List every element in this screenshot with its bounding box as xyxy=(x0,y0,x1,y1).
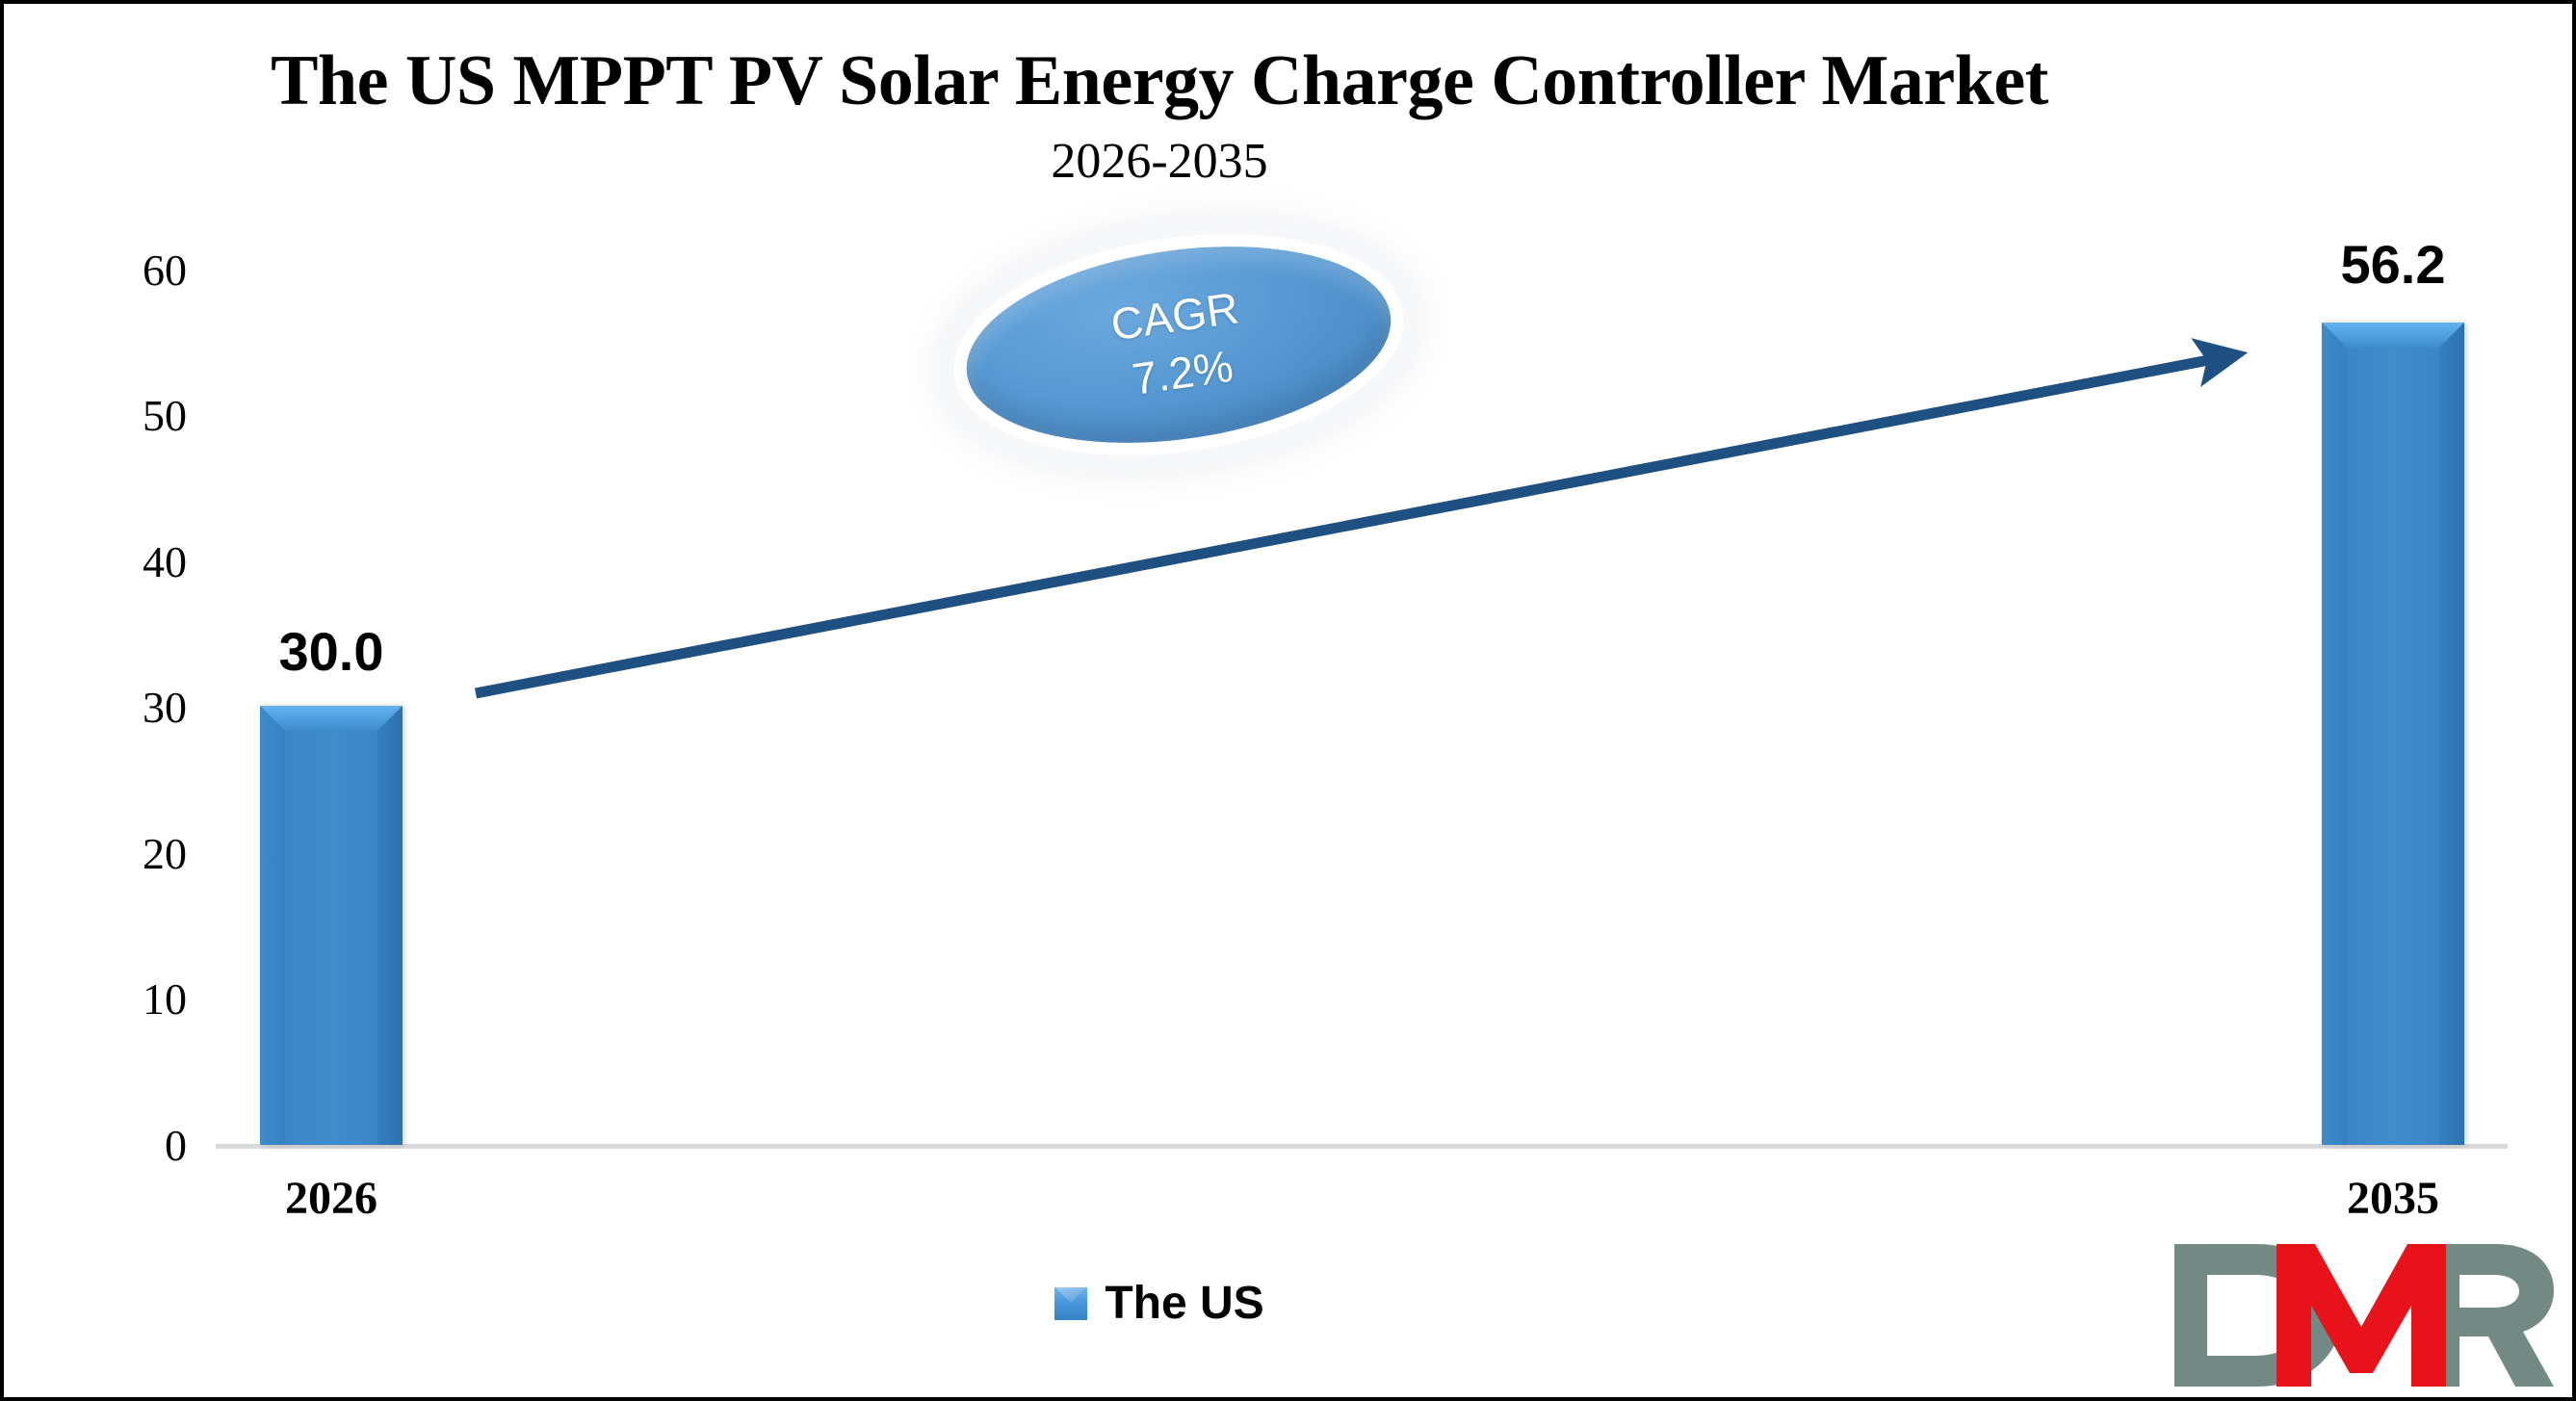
bar-bevel-right-icon xyxy=(2439,323,2464,1145)
chart-legend: The US xyxy=(4,1277,2315,1330)
legend-swatch-the-us xyxy=(1054,1287,1087,1320)
legend-label-the-us: The US xyxy=(1105,1277,1263,1330)
bar-value-label-2026: 30.0 xyxy=(177,620,485,683)
cagr-bubble-text: CAGR 7.2% xyxy=(940,207,1418,481)
x-axis-tick-2026: 2026 xyxy=(187,1172,476,1225)
y-axis-tick-50: 50 xyxy=(42,394,187,438)
x-axis-tick-2035: 2035 xyxy=(2249,1172,2537,1225)
bar-bevel-top-icon xyxy=(2322,323,2464,348)
y-axis-tick-0: 0 xyxy=(42,1124,187,1168)
y-axis-tick-10: 10 xyxy=(42,977,187,1022)
bar-bevel-left-icon xyxy=(260,706,285,1145)
bar-value-label-2035: 56.2 xyxy=(2239,233,2547,296)
y-axis-tick-60: 60 xyxy=(42,248,187,293)
plot-area: 60 50 40 30 20 10 0 30.0 56.2 2026 2035 xyxy=(4,4,2576,1401)
bar-bevel-left-icon xyxy=(2322,323,2347,1145)
bar-bevel-right-icon xyxy=(377,706,403,1145)
bar-2026[interactable] xyxy=(260,706,403,1145)
y-axis-tick-40: 40 xyxy=(42,540,187,584)
cagr-bubble: CAGR 7.2% xyxy=(940,207,1418,481)
bar-2035[interactable] xyxy=(2322,323,2464,1145)
bar-bevel-top-icon xyxy=(260,706,403,731)
x-axis-line xyxy=(216,1144,2508,1149)
logo-letter-m xyxy=(2277,1244,2446,1387)
y-axis-tick-20: 20 xyxy=(42,832,187,876)
dmr-logo-icon xyxy=(2169,1238,2554,1392)
chart-canvas: The US MPPT PV Solar Energy Charge Contr… xyxy=(0,0,2576,1401)
y-axis-tick-30: 30 xyxy=(42,686,187,730)
